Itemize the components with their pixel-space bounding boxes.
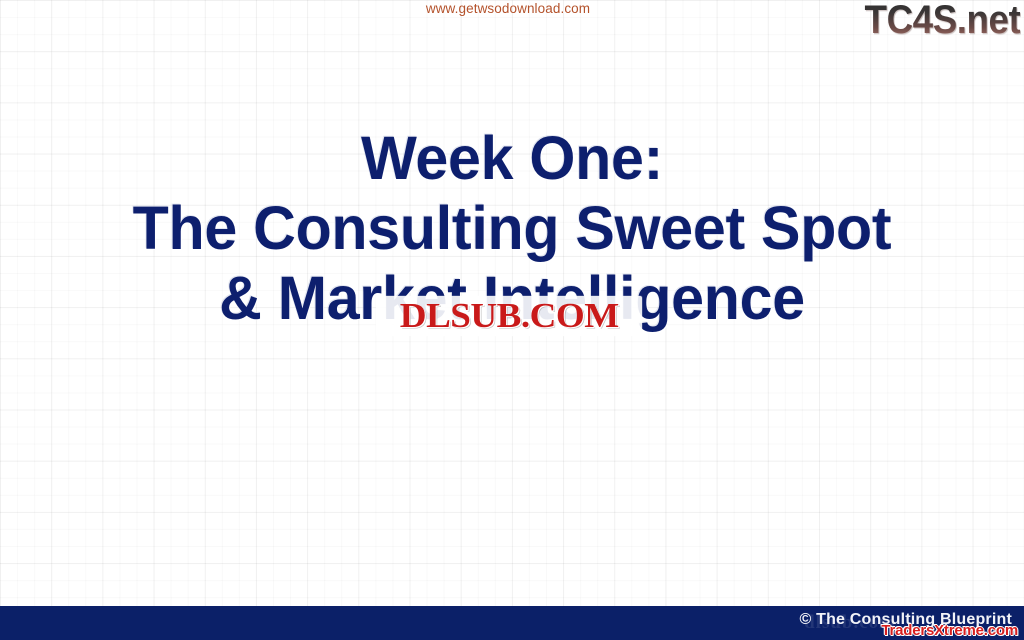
title-line-1: Week One: bbox=[15, 123, 1008, 193]
center-watermark-badge: DLSUB.COM bbox=[376, 296, 642, 336]
footer-watermark-text: TradersXtreme.com bbox=[881, 622, 1018, 639]
center-watermark-text: DLSUB.COM bbox=[400, 296, 619, 336]
site-logo: TC4S.net bbox=[864, 0, 1020, 43]
title-line-2: The Consulting Sweet Spot bbox=[15, 193, 1008, 263]
footer-bar: dlsub.com © The Consulting Blueprint Tra… bbox=[0, 606, 1024, 640]
slide-canvas: www.getwsodownload.com TC4S.net Week One… bbox=[0, 0, 1024, 640]
